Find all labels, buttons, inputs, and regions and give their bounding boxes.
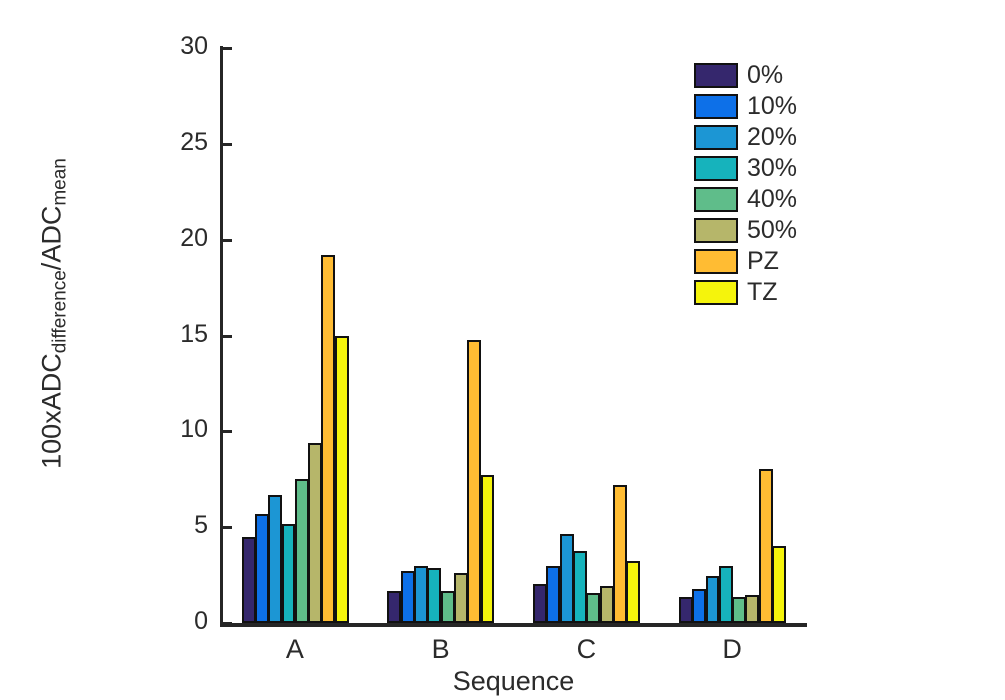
legend-item[interactable]: PZ	[694, 246, 854, 276]
legend-item-label: 40%	[747, 187, 797, 212]
legend-color-swatch	[694, 280, 738, 305]
y-axis-title-sub-mean: mean	[50, 158, 71, 206]
bar	[268, 495, 282, 623]
bar	[626, 561, 640, 623]
legend-color-swatch	[694, 63, 738, 88]
bar	[321, 255, 335, 623]
x-axis-line	[220, 623, 807, 627]
bar	[401, 571, 415, 623]
x-axis-group-label-c: C	[546, 636, 626, 663]
legend-item-label: 10%	[747, 94, 797, 119]
bar	[759, 469, 773, 623]
bar	[679, 597, 693, 623]
bar	[454, 573, 468, 623]
legend-item-label: 50%	[747, 218, 797, 243]
y-axis-title: 100xADCdifference/ADCmean	[39, 104, 66, 524]
legend-item-label: 0%	[747, 63, 783, 88]
y-axis-title-prefix: 100xADC	[37, 353, 67, 469]
bar	[533, 584, 547, 623]
bar	[481, 475, 495, 623]
legend-item-label: 20%	[747, 125, 797, 150]
y-tick-label: 10	[168, 417, 208, 442]
bar	[467, 340, 481, 623]
legend-color-swatch	[694, 218, 738, 243]
legend-item-label: TZ	[747, 280, 778, 305]
x-axis-group-label-b: B	[401, 636, 481, 663]
bar	[255, 514, 269, 623]
bar	[546, 566, 560, 623]
bar	[427, 568, 441, 623]
bar	[242, 537, 256, 623]
bar	[719, 566, 733, 623]
y-tick-label: 25	[168, 130, 208, 155]
legend-color-swatch	[694, 156, 738, 181]
bar-chart-figure: 051015202530 ABCD Sequence 100xADCdiffer…	[0, 0, 1005, 700]
legend-color-swatch	[694, 187, 738, 212]
bar	[745, 595, 759, 623]
bar	[573, 551, 587, 623]
y-tick-label: 15	[168, 322, 208, 347]
bar	[560, 534, 574, 623]
y-tick-label: 5	[168, 513, 208, 538]
legend-item-label: PZ	[747, 249, 779, 274]
bar	[706, 576, 720, 623]
bar	[600, 586, 614, 623]
legend-item[interactable]: 10%	[694, 91, 854, 121]
bar	[387, 591, 401, 623]
bar	[692, 589, 706, 623]
legend-color-swatch	[694, 249, 738, 274]
x-axis-title: Sequence	[222, 668, 805, 695]
bar	[613, 485, 627, 623]
y-tick-label: 30	[168, 34, 208, 59]
y-tick-label: 20	[168, 226, 208, 251]
y-axis-title-middle: /ADC	[37, 206, 67, 271]
bar	[414, 566, 428, 624]
bar	[772, 546, 786, 623]
bar	[295, 479, 309, 623]
legend-item[interactable]: 50%	[694, 215, 854, 245]
bar	[732, 597, 746, 623]
legend-item[interactable]: TZ	[694, 277, 854, 307]
bar	[282, 524, 296, 623]
y-axis-title-sub-difference: difference	[50, 270, 71, 353]
bar	[335, 336, 349, 623]
x-axis-group-label-a: A	[255, 636, 335, 663]
legend-item[interactable]: 20%	[694, 122, 854, 152]
bar	[586, 593, 600, 623]
bar	[308, 443, 322, 623]
legend-item[interactable]: 30%	[694, 153, 854, 183]
legend-color-swatch	[694, 125, 738, 150]
y-tick-label: 0	[168, 609, 208, 634]
legend-item[interactable]: 0%	[694, 60, 854, 90]
legend: 0%10%20%30%40%50%PZTZ	[694, 60, 854, 308]
bar	[441, 591, 455, 623]
legend-item[interactable]: 40%	[694, 184, 854, 214]
legend-color-swatch	[694, 94, 738, 119]
x-axis-group-label-d: D	[692, 636, 772, 663]
legend-item-label: 30%	[747, 156, 797, 181]
